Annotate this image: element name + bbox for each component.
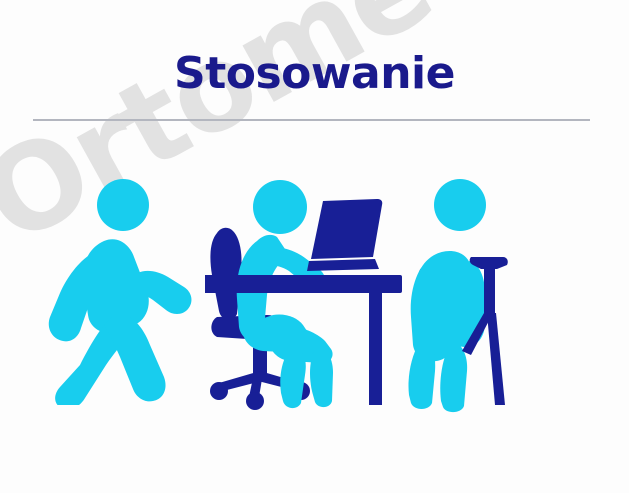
crutch-person-shape	[408, 179, 486, 412]
person-with-crutches-illustration	[385, 165, 525, 420]
person-with-crutches-icon	[385, 165, 525, 415]
walking-person-illustration	[34, 165, 194, 410]
page-title: Stosowanie	[0, 48, 629, 99]
person-at-desk-illustration	[205, 175, 405, 415]
person-at-desk-icon	[205, 175, 405, 410]
presentation-slide: Ortomedico.pl Stosowanie	[0, 0, 629, 493]
walking-person-icon	[34, 165, 194, 405]
title-divider	[33, 119, 590, 121]
